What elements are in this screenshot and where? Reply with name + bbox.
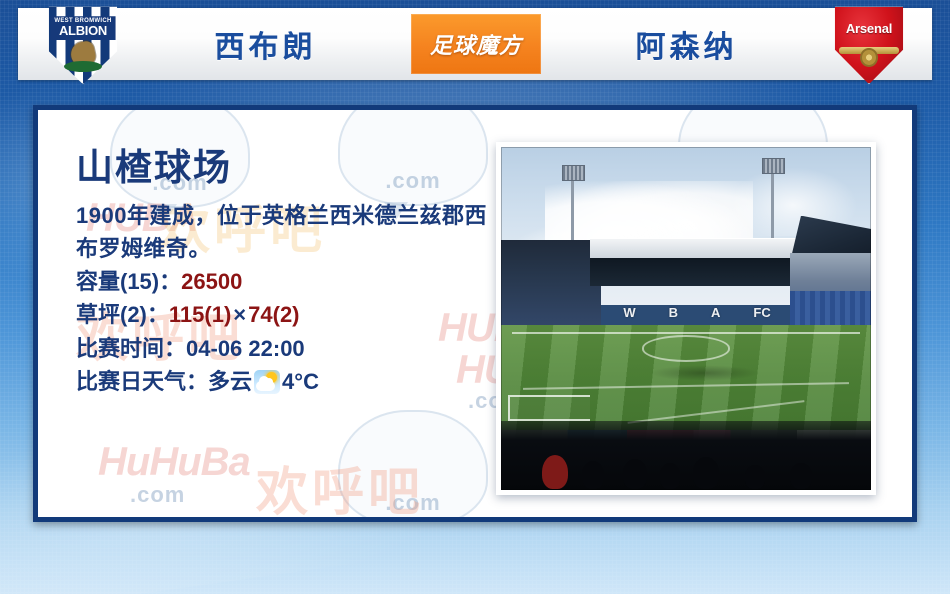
pitch-marking bbox=[627, 400, 804, 424]
spectator-silhouette bbox=[660, 463, 680, 489]
photo-foreground-crowd bbox=[501, 421, 871, 490]
capacity-value: 26500 bbox=[181, 269, 242, 294]
sun-behind-cloud-icon bbox=[254, 370, 280, 394]
match-time-value: 04-06 22:00 bbox=[186, 336, 305, 361]
capacity-row: 容量(15)：26500 bbox=[76, 265, 496, 298]
home-team-name: 西布朗 bbox=[120, 22, 411, 66]
pitch-shadow bbox=[649, 365, 760, 381]
weather-temperature: 4°C bbox=[282, 369, 319, 394]
pitch-center-circle bbox=[642, 335, 731, 361]
spectator-silhouette bbox=[790, 463, 812, 489]
pitch-length-value: 115(1) bbox=[169, 302, 231, 327]
photo-seat-lettering: W B A FC bbox=[619, 301, 774, 323]
multiply-icon: × bbox=[233, 302, 246, 327]
arsenal-wordmark: Arsenal bbox=[832, 21, 906, 36]
pitch-marking bbox=[523, 382, 849, 390]
capacity-label: 容量(15)： bbox=[76, 269, 181, 294]
arsenal-shield-shape bbox=[832, 5, 906, 85]
pitch-marking bbox=[512, 332, 860, 334]
match-time-label: 比赛时间： bbox=[76, 336, 186, 361]
seat-letter: W bbox=[623, 305, 635, 320]
match-time-row: 比赛时间：04-06 22:00 bbox=[76, 332, 496, 365]
stadium-photo: W B A FC bbox=[501, 147, 871, 490]
stadium-info-card: .com .com .com .com HUBA HuHuBa HUBA HUB… bbox=[33, 105, 917, 522]
spectator-silhouette bbox=[623, 459, 647, 489]
photo-stand-left bbox=[501, 240, 601, 329]
pitch-width-value: 74(2) bbox=[248, 302, 299, 327]
west-bromwich-albion-crest: WEST BROMWICH ALBION bbox=[46, 5, 120, 85]
weather-label: 比赛日天气： bbox=[76, 369, 208, 394]
spectator-silhouette bbox=[582, 461, 604, 489]
watermark-bubble: .com bbox=[338, 410, 488, 522]
watermark-cn-text: 欢呼吧 bbox=[256, 450, 424, 522]
seat-letter: FC bbox=[753, 305, 770, 320]
watermark-huba-text: HuHuBa bbox=[98, 440, 250, 485]
photo-stand-main-shade bbox=[590, 258, 805, 285]
watermark-com-text: .com bbox=[130, 482, 185, 508]
pitch-size-row: 草坪(2)：115(1)×74(2) bbox=[76, 298, 496, 331]
match-header-bar: WEST BROMWICH ALBION 西布朗 足球魔方 阿森纳 Arsena… bbox=[18, 8, 932, 80]
arsenal-crest: Arsenal bbox=[832, 5, 906, 85]
seat-letter: B bbox=[669, 305, 678, 320]
floodlight-tower-icon bbox=[771, 171, 774, 240]
weather-condition: 多云 bbox=[208, 369, 252, 394]
pitch-label: 草坪(2)： bbox=[76, 302, 169, 327]
watermark-com-text: .com bbox=[385, 490, 440, 516]
photo-stand-main-roof bbox=[590, 238, 805, 259]
stadium-info-block: 山楂球场 1900年建成，位于英格兰西米德兰兹郡西布罗姆维奇。 容量(15)：2… bbox=[76, 148, 496, 398]
site-logo[interactable]: 足球魔方 bbox=[411, 14, 541, 74]
seat-letter: A bbox=[711, 305, 720, 320]
pitch-goal bbox=[508, 395, 589, 421]
away-team-name: 阿森纳 bbox=[541, 22, 832, 66]
wba-main-text: ALBION bbox=[59, 24, 107, 38]
spectator-silhouette bbox=[542, 455, 568, 489]
page-title: 山楂球场 bbox=[76, 148, 496, 189]
spectator-silhouette bbox=[745, 465, 765, 489]
spectator-silhouette bbox=[693, 457, 719, 489]
stadium-description: 1900年建成，位于英格兰西米德兰兹郡西布罗姆维奇。 bbox=[76, 199, 496, 265]
stadium-photo-frame: W B A FC bbox=[496, 142, 876, 495]
weather-row: 比赛日天气：多云4°C bbox=[76, 365, 496, 398]
site-logo-text: 足球魔方 bbox=[430, 28, 522, 60]
wba-name-band: WEST BROMWICH ALBION bbox=[50, 16, 115, 40]
